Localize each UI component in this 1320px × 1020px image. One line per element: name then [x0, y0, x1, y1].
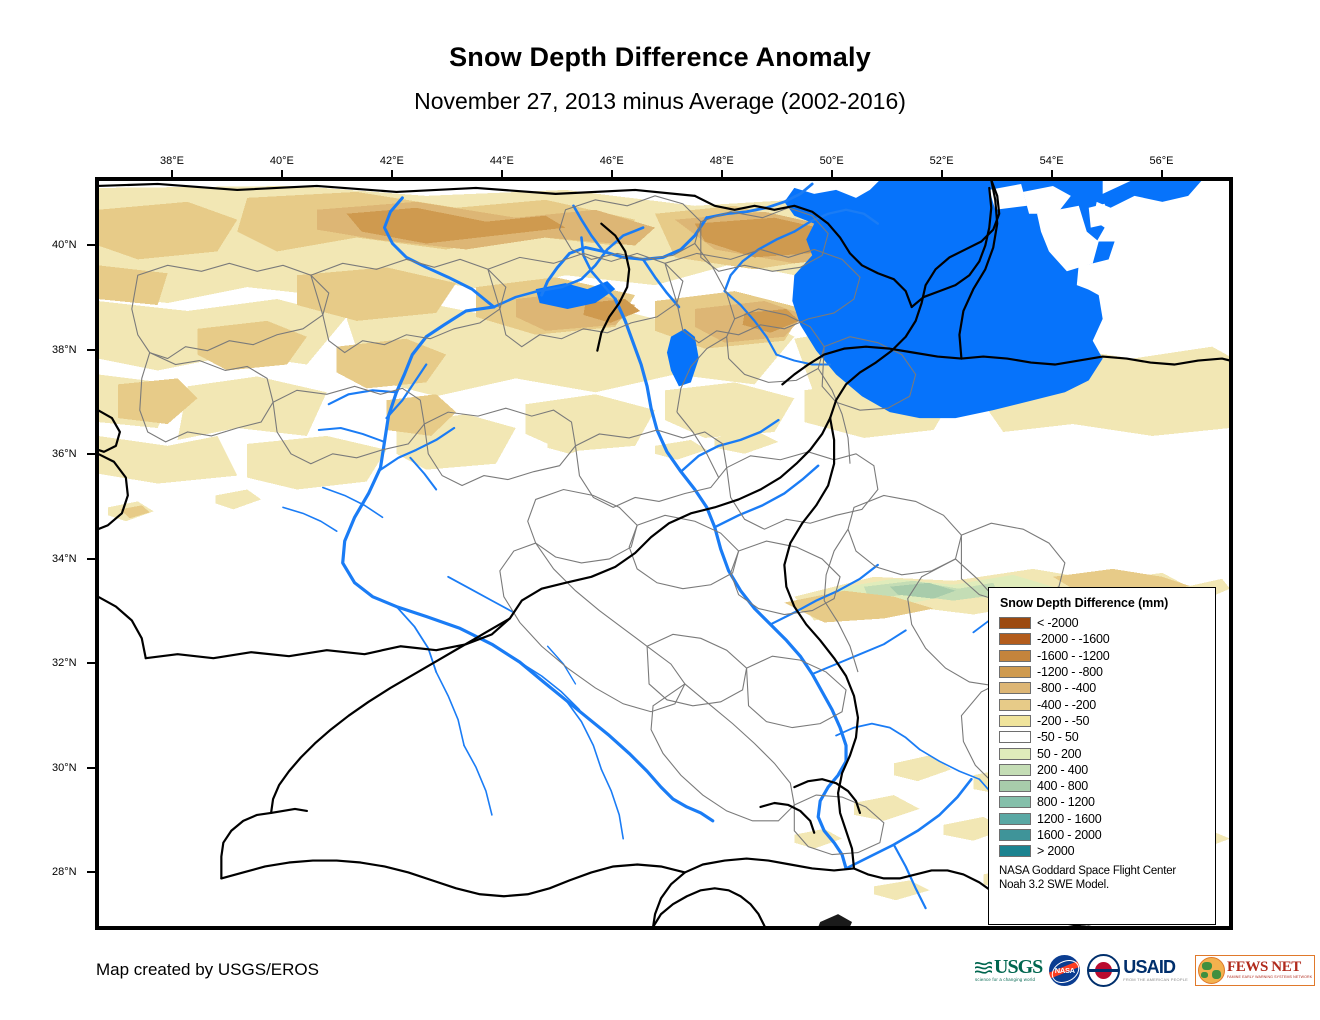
usaid-logo-tagline: FROM THE AMERICAN PEOPLE: [1123, 978, 1188, 982]
legend-row: -1600 - -1200: [999, 648, 1205, 664]
legend-swatch: [999, 748, 1031, 760]
longitude-tick-label: 40°E: [270, 155, 294, 167]
legend-swatch: [999, 666, 1031, 678]
map-legend: Snow Depth Difference (mm) < -2000-2000 …: [988, 587, 1216, 925]
legend-row: -400 - -200: [999, 696, 1205, 712]
longitude-tick-label: 56°E: [1150, 155, 1174, 167]
legend-row: -200 - -50: [999, 713, 1205, 729]
legend-class-list: < -2000-2000 - -1600-1600 - -1200-1200 -…: [999, 615, 1205, 859]
legend-swatch: [999, 715, 1031, 727]
latitude-tick-label: 32°N: [52, 657, 77, 669]
legend-title: Snow Depth Difference (mm): [1000, 596, 1205, 610]
hawizeh-marsh: [816, 914, 852, 927]
legend-label: -1200 - -800: [1037, 666, 1103, 678]
legend-swatch: [999, 682, 1031, 694]
latitude-tick-label: 40°N: [52, 239, 77, 251]
longitude-tick-label: 50°E: [820, 155, 844, 167]
latitude-tick-label: 28°N: [52, 866, 77, 878]
longitude-tick-label: 52°E: [930, 155, 954, 167]
latitude-tick-label: 30°N: [52, 762, 77, 774]
legend-label: -50 - 50: [1037, 731, 1078, 743]
longitude-tick-label: 44°E: [490, 155, 514, 167]
legend-swatch: [999, 764, 1031, 776]
legend-swatch: [999, 731, 1031, 743]
legend-label: < -2000: [1037, 617, 1078, 629]
usaid-logo-text: USAID: [1123, 958, 1188, 976]
legend-row: -2000 - -1600: [999, 631, 1205, 647]
legend-label: 400 - 800: [1037, 780, 1088, 792]
legend-row: 400 - 800: [999, 778, 1205, 794]
nasa-meatball-icon: NASA: [1049, 955, 1080, 986]
longitude-tick-label: 48°E: [710, 155, 734, 167]
fewsnet-logo-tagline: FAMINE EARLY WARNING SYSTEMS NETWORK: [1227, 976, 1312, 980]
lake-urmia: [667, 329, 699, 387]
legend-row: 1600 - 2000: [999, 827, 1205, 843]
legend-row: 200 - 400: [999, 762, 1205, 778]
legend-footnote-line1: NASA Goddard Space Flight Center: [999, 865, 1205, 879]
legend-footnote-line2: Noah 3.2 SWE Model.: [999, 879, 1205, 893]
fewsnet-logo: FEWS NET FAMINE EARLY WARNING SYSTEMS NE…: [1195, 954, 1315, 986]
legend-swatch: [999, 829, 1031, 841]
usgs-wave-icon: [975, 960, 992, 974]
legend-row: 1200 - 1600: [999, 811, 1205, 827]
legend-label: -800 - -400: [1037, 682, 1096, 694]
legend-footnote: NASA Goddard Space Flight Center Noah 3.…: [999, 865, 1205, 892]
longitude-tick-label: 46°E: [600, 155, 624, 167]
usgs-logo-tagline: science for a changing world: [975, 978, 1035, 982]
legend-row: 50 - 200: [999, 745, 1205, 761]
legend-label: -1600 - -1200: [1037, 650, 1109, 662]
legend-label: 50 - 200: [1037, 748, 1081, 760]
page-subtitle: November 27, 2013 minus Average (2002-20…: [0, 88, 1320, 115]
nasa-orbit-icon: [1049, 955, 1080, 986]
usgs-logo-text: USGS: [994, 957, 1042, 977]
legend-label: 800 - 1200: [1037, 796, 1095, 808]
map-credit: Map created by USGS/EROS: [96, 960, 319, 980]
legend-label: -2000 - -1600: [1037, 633, 1109, 645]
legend-swatch: [999, 780, 1031, 792]
legend-swatch: [999, 699, 1031, 711]
usaid-seal-icon: [1087, 954, 1120, 987]
fewsnet-globe-icon: [1198, 957, 1225, 984]
legend-row: 800 - 1200: [999, 794, 1205, 810]
nasa-logo: NASA: [1049, 954, 1080, 986]
legend-swatch: [999, 796, 1031, 808]
legend-label: 1600 - 2000: [1037, 829, 1102, 841]
legend-label: > 2000: [1037, 845, 1074, 857]
legend-swatch: [999, 813, 1031, 825]
legend-label: 200 - 400: [1037, 764, 1088, 776]
latitude-tick-label: 36°N: [52, 448, 77, 460]
legend-label: 1200 - 1600: [1037, 813, 1102, 825]
page-title: Snow Depth Difference Anomaly: [0, 42, 1320, 73]
legend-swatch: [999, 633, 1031, 645]
legend-row: -50 - 50: [999, 729, 1205, 745]
legend-label: -200 - -50: [1037, 715, 1089, 727]
agency-logos: USGS science for a changing world NASA U…: [975, 952, 1315, 988]
legend-row: > 2000: [999, 843, 1205, 859]
usaid-logo: USAID FROM THE AMERICAN PEOPLE: [1087, 954, 1188, 986]
legend-row: -1200 - -800: [999, 664, 1205, 680]
legend-swatch: [999, 650, 1031, 662]
latitude-tick-label: 38°N: [52, 344, 77, 356]
legend-swatch: [999, 845, 1031, 857]
usgs-logo: USGS science for a changing world: [975, 954, 1042, 986]
fewsnet-logo-text: FEWS NET: [1227, 960, 1312, 975]
longitude-tick-label: 54°E: [1040, 155, 1064, 167]
legend-row: -800 - -400: [999, 680, 1205, 696]
longitude-tick-label: 38°E: [160, 155, 184, 167]
longitude-tick-label: 42°E: [380, 155, 404, 167]
legend-label: -400 - -200: [1037, 699, 1096, 711]
legend-swatch: [999, 617, 1031, 629]
usaid-seal-bar-icon: [1089, 969, 1118, 972]
legend-row: < -2000: [999, 615, 1205, 631]
latitude-tick-label: 34°N: [52, 553, 77, 565]
